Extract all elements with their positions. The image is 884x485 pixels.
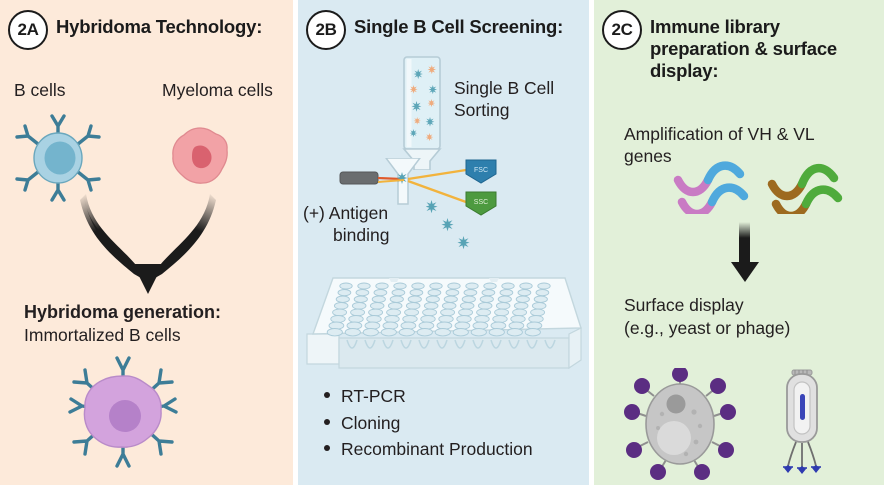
panel-2c-header: 2C Immune library preparation & surface … — [602, 10, 870, 81]
hybridoma-cell-icon — [58, 348, 188, 481]
panel-2c-title-line1: Immune library — [650, 16, 870, 38]
cell-suspension-tube-icon — [392, 55, 452, 175]
b-cell-label: B cells — [14, 80, 66, 101]
panel-2a-badge: 2A — [8, 10, 48, 50]
list-item: Cloning — [322, 410, 533, 437]
myeloma-cell-icon — [168, 124, 232, 193]
panel-2a-title: Hybridoma Technology: — [56, 10, 286, 38]
sorting-label-line1: Single B Cell — [454, 78, 554, 100]
list-item: RT-PCR — [322, 383, 533, 410]
vh-vl-gene-strands-icon — [672, 152, 862, 219]
antigen-bound-cells-icon — [426, 200, 486, 265]
panel-2b-title: Single B Cell Screening: — [354, 10, 589, 38]
amplification-label-line1: Amplification of VH & VL — [624, 124, 815, 146]
merge-arrow-icon — [78, 190, 218, 305]
sorting-label-line2: Sorting — [454, 100, 554, 122]
surface-label-line2: (e.g., yeast or phage) — [624, 317, 790, 340]
panel-2b: 2B Single B Cell Screening: — [298, 0, 589, 485]
panel-2b-bullet-list: RT-PCR Cloning Recombinant Production — [322, 383, 533, 463]
hybridoma-generation-subtitle: Immortalized B cells — [24, 325, 181, 346]
microplate-icon — [303, 272, 585, 382]
bullet-list: RT-PCR Cloning Recombinant Production — [322, 383, 533, 463]
yeast-display-cell-icon — [624, 368, 736, 485]
panel-2a-header: 2A Hybridoma Technology: — [8, 10, 286, 50]
panel-2c: 2C Immune library preparation & surface … — [594, 0, 884, 485]
panel-2c-title-line2: preparation & surface — [650, 38, 870, 60]
panel-2c-title: Immune library preparation & surface dis… — [650, 10, 870, 81]
panel-2b-header: 2B Single B Cell Screening: — [306, 10, 589, 50]
figure-container: 2A Hybridoma Technology: B cells Myeloma… — [0, 0, 884, 485]
antigen-label-line1: (+) Antigen — [303, 203, 389, 225]
list-item: Recombinant Production — [322, 436, 533, 463]
panel-2b-badge: 2B — [306, 10, 346, 50]
panel-2a: 2A Hybridoma Technology: B cells Myeloma… — [0, 0, 293, 485]
phage-display-particle-icon — [772, 368, 832, 485]
fsc-detector-badge: FSC — [466, 160, 496, 183]
single-b-cell-sorting-label: Single B Cell Sorting — [454, 78, 554, 122]
surface-display-label: Surface display (e.g., yeast or phage) — [624, 294, 790, 340]
antigen-binding-label: (+) Antigen binding — [303, 203, 389, 247]
antigen-label-line2: binding — [303, 225, 389, 247]
panel-2c-badge: 2C — [602, 10, 642, 50]
hybridoma-generation-title: Hybridoma generation: — [24, 302, 221, 324]
down-arrow-icon — [726, 222, 764, 289]
surface-label-line1: Surface display — [624, 294, 790, 317]
svg-text:FSC: FSC — [474, 167, 488, 174]
panel-2c-title-line3: display: — [650, 60, 870, 82]
myeloma-cell-label: Myeloma cells — [162, 80, 273, 101]
